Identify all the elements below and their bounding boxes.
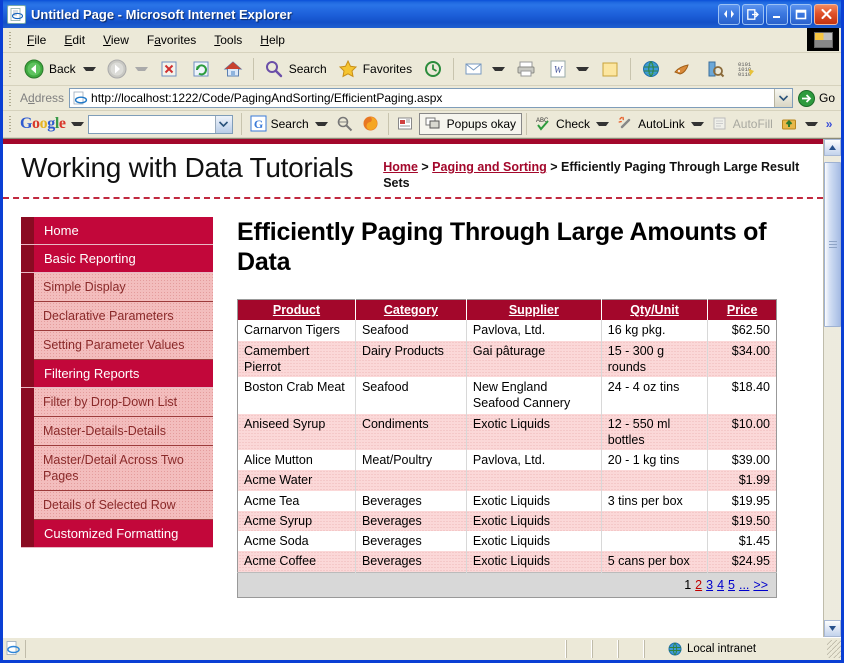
cell-product: Acme Tea: [238, 491, 356, 511]
menu-file-rest: ile: [34, 33, 46, 47]
cell-product: Alice Mutton: [238, 450, 356, 470]
close-icon[interactable]: [814, 4, 838, 25]
security-zone-label: Local intranet: [687, 643, 756, 655]
scrollbar-track[interactable]: [824, 156, 841, 620]
cell-product: Acme Water: [238, 470, 356, 490]
window-controls: [718, 4, 838, 25]
go-button[interactable]: Go: [795, 89, 841, 108]
address-bar: Address http://localhost:1222/Code/Pagin…: [3, 86, 841, 111]
sort-link-supplier[interactable]: Supplier: [509, 303, 559, 317]
menu-grip[interactable]: [6, 31, 14, 49]
google-logo: Google: [18, 115, 68, 133]
grid-body: Carnarvon Tigers Seafood Pavlova, Ltd. 1…: [238, 320, 777, 597]
cell-qty: [601, 470, 708, 490]
menu-item-help[interactable]: Help: [251, 30, 294, 50]
cell-price: $18.40: [708, 377, 777, 414]
autofill-icon: [712, 115, 730, 133]
favorites-button[interactable]: Favorites: [332, 55, 417, 83]
mail-icon: [463, 58, 485, 80]
cell-qty: 3 tins per box: [601, 491, 708, 511]
cell-category: Beverages: [355, 551, 466, 572]
site-title: Working with Data Tutorials: [21, 152, 353, 184]
page-scrollbar[interactable]: [823, 139, 841, 637]
stop-button[interactable]: [153, 55, 185, 83]
google-search-label: Search: [271, 117, 309, 131]
grid-col-category: Category: [355, 300, 466, 321]
resize-grip[interactable]: [827, 640, 841, 658]
cell-price: $62.50: [708, 320, 777, 340]
sidebar-item-filter-by-drop-down-list[interactable]: Filter by Drop-Down List: [34, 388, 213, 417]
cell-supplier: Exotic Liquids: [466, 491, 601, 511]
google-search-caret[interactable]: [315, 122, 328, 126]
page-heading: Efficiently Paging Through Large Amounts…: [237, 217, 801, 277]
history-icon: [422, 58, 444, 80]
page-viewport: Working with Data Tutorials Home > Pagin…: [3, 138, 841, 637]
home-button[interactable]: [217, 55, 249, 83]
menu-item-edit[interactable]: Edit: [55, 30, 94, 50]
messenger-button[interactable]: [635, 55, 667, 83]
status-pane-4: [618, 640, 644, 658]
cell-product: Camembert Pierrot: [238, 341, 356, 378]
globe-icon: [667, 641, 683, 657]
pager-next-group[interactable]: >>: [751, 578, 770, 592]
cell-price: $1.99: [708, 470, 777, 490]
google-grip[interactable]: [6, 115, 14, 133]
google-separator-1: [241, 113, 242, 135]
cell-supplier: Pavlova, Ltd.: [466, 450, 601, 470]
cell-supplier: Exotic Liquids: [466, 511, 601, 531]
back-label: Back: [49, 62, 76, 76]
popup-blocker-icon: [425, 115, 443, 133]
cell-supplier: Gai pâturage: [466, 341, 601, 378]
address-dropdown-icon[interactable]: [774, 89, 792, 107]
back-icon: [23, 58, 45, 80]
menu-tools-rest: ools: [220, 33, 242, 47]
scrollbar-grip: [829, 241, 837, 248]
grid-pager-cell: 12345...>>: [238, 572, 777, 597]
cell-qty: 16 kg pkg.: [601, 320, 708, 340]
news-icon: [397, 115, 415, 133]
sidebar-item-basic-reporting[interactable]: Basic Reporting: [21, 245, 213, 273]
google-g-icon: G: [250, 115, 268, 133]
scroll-up-button[interactable]: [824, 139, 841, 156]
toolbar-grip[interactable]: [6, 60, 14, 78]
status-pane-2: [566, 640, 592, 658]
main-toolbar: Back Searc: [3, 53, 841, 86]
sort-link-category[interactable]: Category: [384, 303, 438, 317]
cell-product: Boston Crab Meat: [238, 377, 356, 414]
address-input[interactable]: http://localhost:1222/Code/PagingAndSort…: [69, 88, 793, 108]
back-dropdown-caret[interactable]: [83, 67, 96, 71]
autolink-button[interactable]: AutoLink: [613, 113, 708, 135]
windows-logo: [807, 28, 839, 51]
title-bar: Untitled Page - Microsoft Internet Explo…: [3, 0, 841, 28]
fox-icon: [672, 58, 694, 80]
cell-product: Acme Coffee: [238, 551, 356, 572]
cell-qty: [601, 511, 708, 531]
scroll-down-button[interactable]: [824, 620, 841, 637]
table-row: Acme Tea Beverages Exotic Liquids 3 tins…: [238, 491, 777, 511]
svg-text:G: G: [253, 117, 262, 131]
autofill-button[interactable]: AutoFill: [708, 113, 777, 135]
sort-link-qty[interactable]: Qty/Unit: [630, 303, 679, 317]
page-body: Home Basic Reporting Simple Display Decl…: [3, 199, 823, 598]
globe-icon: [640, 58, 662, 80]
browser-window: Untitled Page - Microsoft Internet Explo…: [0, 0, 844, 663]
ie-page-icon: [7, 5, 26, 24]
toolbar-separator-2: [453, 58, 454, 80]
pager-page-1: 1: [682, 578, 693, 592]
sidebar-item-master-details-details[interactable]: Master-Details-Details: [34, 417, 213, 446]
google-separator-3: [526, 113, 527, 135]
breadcrumb-sep-1: >: [418, 160, 432, 174]
status-pane-3: [592, 640, 618, 658]
spellcheck-caret[interactable]: [596, 122, 609, 126]
print-button[interactable]: [510, 55, 542, 83]
cell-qty: 15 - 300 g rounds: [601, 341, 708, 378]
breadcrumb-sep-2: >: [547, 160, 561, 174]
google-logo-caret[interactable]: [71, 122, 84, 126]
google-search-dropdown-icon[interactable]: [215, 116, 232, 133]
menu-help-rest: elp: [269, 33, 285, 47]
google-overflow-button[interactable]: »: [822, 115, 837, 133]
cell-price: $39.00: [708, 450, 777, 470]
window-title: Untitled Page - Microsoft Internet Explo…: [31, 7, 718, 22]
breadcrumb-link-home[interactable]: Home: [383, 160, 418, 174]
stop-icon: [158, 58, 180, 80]
grid-pager-row: 12345...>>: [238, 572, 777, 597]
cell-price: $34.00: [708, 341, 777, 378]
svg-text:0110: 0110: [738, 71, 751, 78]
toolbar-separator-1: [253, 58, 254, 80]
cell-supplier: Pavlova, Ltd.: [466, 320, 601, 340]
restore-group-icon[interactable]: [742, 4, 764, 25]
sidebar-item-details-of-selected-row[interactable]: Details of Selected Row: [34, 491, 213, 520]
spellcheck-button[interactable]: ABC Check: [531, 113, 613, 135]
grid-col-price: Price: [708, 300, 777, 321]
send-to-caret[interactable]: [805, 122, 818, 126]
cell-category: Seafood: [355, 377, 466, 414]
minimize-icon[interactable]: [766, 4, 788, 25]
pager-page-2[interactable]: 2: [693, 578, 704, 592]
web-page: Working with Data Tutorials Home > Pagin…: [3, 139, 823, 637]
autolink-label: AutoLink: [638, 117, 685, 131]
pager-page-5[interactable]: 5: [726, 578, 737, 592]
cell-category: [355, 470, 466, 490]
cell-category: Beverages: [355, 491, 466, 511]
table-row: Carnarvon Tigers Seafood Pavlova, Ltd. 1…: [238, 320, 777, 340]
cell-qty: 20 - 1 kg tins: [601, 450, 708, 470]
back-button[interactable]: Back: [18, 55, 101, 83]
products-grid: Product Category Supplier Qty/Unit Price…: [237, 299, 777, 598]
pager-ellipsis[interactable]: ...: [737, 578, 751, 592]
ie-icon: [72, 90, 88, 106]
cell-category: Beverages: [355, 511, 466, 531]
restore-split-icon[interactable]: [718, 4, 740, 25]
go-icon: [797, 89, 816, 108]
sort-link-product[interactable]: Product: [273, 303, 320, 317]
pager-page-4[interactable]: 4: [715, 578, 726, 592]
forward-dropdown-caret[interactable]: [135, 67, 148, 71]
cell-category: Dairy Products: [355, 341, 466, 378]
refresh-button[interactable]: [185, 55, 217, 83]
cell-price: $10.00: [708, 414, 777, 451]
menu-view-rest: iew: [111, 33, 129, 47]
encoding-button[interactable]: 010110100110: [731, 55, 763, 83]
google-site-search-button[interactable]: [332, 113, 358, 135]
breadcrumb: Home > Paging and Sorting > Efficiently …: [353, 152, 809, 191]
main-content: Efficiently Paging Through Large Amounts…: [213, 199, 823, 598]
cell-qty: 12 - 550 ml bottles: [601, 414, 708, 451]
address-label: Address: [18, 91, 69, 105]
menu-fav-rest: vorites: [161, 33, 196, 47]
menu-item-view[interactable]: View: [94, 30, 138, 50]
forward-icon: [106, 58, 128, 80]
cell-supplier: Exotic Liquids: [466, 551, 601, 572]
send-to-button[interactable]: [777, 113, 822, 135]
page-icon: [5, 640, 23, 658]
menu-bar: File Edit View Favorites Tools Help: [3, 28, 841, 53]
history-button[interactable]: [417, 55, 449, 83]
research-icon: [704, 58, 726, 80]
autofill-label: AutoFill: [733, 117, 773, 131]
address-grip[interactable]: [6, 89, 14, 107]
fox-button[interactable]: [667, 55, 699, 83]
cell-price: $24.95: [708, 551, 777, 572]
word-icon: W: [547, 58, 569, 80]
home-icon: [222, 58, 244, 80]
grid-header-row: Product Category Supplier Qty/Unit Price: [238, 300, 777, 321]
spellcheck-icon: ABC: [535, 115, 553, 133]
cell-category: Beverages: [355, 531, 466, 551]
toolbar-separator-3: [630, 58, 631, 80]
maximize-icon[interactable]: [790, 4, 812, 25]
spellcheck-label: Check: [556, 117, 590, 131]
status-bar: Local intranet: [3, 637, 841, 660]
cell-price: $19.95: [708, 491, 777, 511]
cell-supplier: [466, 470, 601, 490]
search-label: Search: [289, 62, 327, 76]
security-zone[interactable]: Local intranet: [644, 640, 827, 658]
table-row: Camembert Pierrot Dairy Products Gai pât…: [238, 341, 777, 378]
site-search-icon: [336, 115, 354, 133]
google-toolbar: Google G Search: [3, 111, 841, 138]
popup-blocker-button[interactable]: Popups okay: [419, 113, 522, 135]
grid-col-supplier: Supplier: [466, 300, 601, 321]
cell-price: $1.45: [708, 531, 777, 551]
sort-link-price[interactable]: Price: [727, 303, 758, 317]
pager-page-3[interactable]: 3: [704, 578, 715, 592]
google-pagerank-button[interactable]: [358, 113, 384, 135]
notes-icon: [599, 58, 621, 80]
go-label: Go: [819, 91, 835, 105]
sidebar-item-setting-parameter-values[interactable]: Setting Parameter Values: [34, 331, 213, 360]
cell-supplier: New England Seafood Cannery: [466, 377, 601, 414]
sidebar-item-filtering-reports[interactable]: Filtering Reports: [21, 360, 213, 388]
table-row: Boston Crab Meat Seafood New England Sea…: [238, 377, 777, 414]
refresh-icon: [190, 58, 212, 80]
cell-category: Meat/Poultry: [355, 450, 466, 470]
pagerank-icon: [362, 115, 380, 133]
notes-button[interactable]: [594, 55, 626, 83]
menu-item-tools[interactable]: Tools: [205, 30, 251, 50]
search-icon: [263, 58, 285, 80]
cell-product: Carnarvon Tigers: [238, 320, 356, 340]
table-row: Acme Syrup Beverages Exotic Liquids $19.…: [238, 511, 777, 531]
research-button[interactable]: [699, 55, 731, 83]
mail-dropdown-caret[interactable]: [492, 67, 505, 71]
scrollbar-thumb[interactable]: [824, 162, 841, 327]
search-button[interactable]: Search: [258, 55, 332, 83]
cell-product: Acme Syrup: [238, 511, 356, 531]
google-separator-2: [388, 113, 389, 135]
grid-head: Product Category Supplier Qty/Unit Price: [238, 300, 777, 321]
table-row: Alice Mutton Meat/Poultry Pavlova, Ltd. …: [238, 450, 777, 470]
popup-blocker-label: Popups okay: [447, 117, 516, 131]
mail-button[interactable]: [458, 55, 510, 83]
menu-item-file[interactable]: File: [18, 30, 55, 50]
autolink-icon: [617, 115, 635, 133]
table-row: Acme Water $1.99: [238, 470, 777, 490]
sidebar-item-customized-formatting[interactable]: Customized Formatting: [21, 520, 213, 548]
encoding-icon: 010110100110: [736, 58, 758, 80]
menu-item-favorites[interactable]: Favorites: [138, 30, 205, 50]
edit-word-button[interactable]: W: [542, 55, 594, 83]
forward-button[interactable]: [101, 55, 153, 83]
cell-product: Aniseed Syrup: [238, 414, 356, 451]
status-message-pane: [25, 640, 566, 658]
cell-category: Condiments: [355, 414, 466, 451]
send-to-icon: [781, 115, 799, 133]
menu-edit-rest: dit: [72, 33, 85, 47]
print-icon: [515, 58, 537, 80]
google-news-button[interactable]: [393, 113, 419, 135]
sidebar-item-master-detail-across-two-pages[interactable]: Master/Detail Across Two Pages: [34, 446, 213, 491]
cell-product: Acme Soda: [238, 531, 356, 551]
word-dropdown-caret[interactable]: [576, 67, 589, 71]
cell-qty: [601, 531, 708, 551]
grid-col-product: Product: [238, 300, 356, 321]
address-url: http://localhost:1222/Code/PagingAndSort…: [91, 91, 774, 105]
cell-qty: 5 cans per box: [601, 551, 708, 572]
star-icon: [337, 58, 359, 80]
cell-supplier: Exotic Liquids: [466, 414, 601, 451]
table-row: Aniseed Syrup Condiments Exotic Liquids …: [238, 414, 777, 451]
cell-category: Seafood: [355, 320, 466, 340]
table-row: Acme Coffee Beverages Exotic Liquids 5 c…: [238, 551, 777, 572]
favorites-label: Favorites: [363, 62, 412, 76]
table-row: Acme Soda Beverages Exotic Liquids $1.45: [238, 531, 777, 551]
sidebar-nav: Home Basic Reporting Simple Display Decl…: [21, 217, 213, 548]
breadcrumb-link-paging[interactable]: Paging and Sorting: [432, 160, 547, 174]
autolink-caret[interactable]: [691, 122, 704, 126]
google-search-input[interactable]: [88, 115, 233, 134]
sidebar-item-home[interactable]: Home: [21, 217, 213, 245]
sidebar-item-simple-display[interactable]: Simple Display: [34, 273, 213, 302]
cell-qty: 24 - 4 oz tins: [601, 377, 708, 414]
grid-col-qty: Qty/Unit: [601, 300, 708, 321]
google-search-button[interactable]: G Search: [246, 113, 332, 135]
sidebar-item-declarative-parameters[interactable]: Declarative Parameters: [34, 302, 213, 331]
page-header: Working with Data Tutorials Home > Pagin…: [3, 144, 823, 199]
cell-price: $19.50: [708, 511, 777, 531]
cell-supplier: Exotic Liquids: [466, 531, 601, 551]
